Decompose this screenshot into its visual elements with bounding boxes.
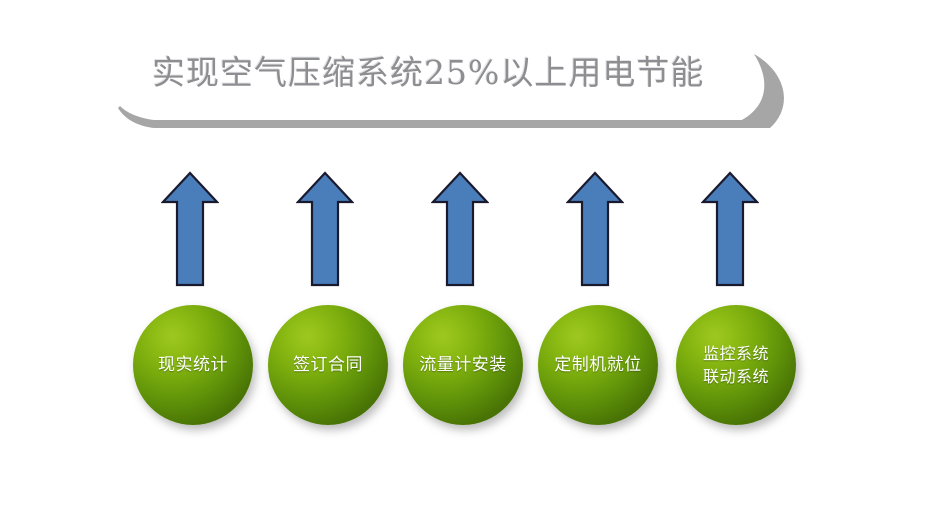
step-circle-5[interactable]: 监控系统 联动系统 [676,305,796,425]
up-arrow-5 [701,171,759,287]
step-circle-4[interactable]: 定制机就位 [538,305,658,425]
up-arrow-2 [296,171,354,287]
title-banner: 实现空气压缩系统25%以上用电节能 [118,36,778,136]
step-label-1: 现实统计 [158,354,228,376]
step-circle-1[interactable]: 现实统计 [133,305,253,425]
up-arrow-glyph [163,173,217,285]
step-label-5: 监控系统 联动系统 [703,342,769,388]
up-arrow-glyph [433,173,487,285]
page-title: 实现空气压缩系统25%以上用电节能 [152,42,752,104]
up-arrow-glyph [298,173,352,285]
up-arrow-1 [161,171,219,287]
step-circle-2[interactable]: 签订合同 [268,305,388,425]
up-arrow-3 [431,171,489,287]
step-label-2: 签订合同 [293,354,363,376]
step-circle-3[interactable]: 流量计安装 [403,305,523,425]
step-label-3: 流量计安装 [419,354,507,376]
up-arrow-4 [566,171,624,287]
up-arrow-glyph [703,173,757,285]
banner-underline [118,106,758,128]
step-label-4: 定制机就位 [554,354,642,376]
slide-canvas: 实现空气压缩系统25%以上用电节能 现实统计 签订合同 流 [0,0,945,529]
up-arrow-glyph [568,173,622,285]
